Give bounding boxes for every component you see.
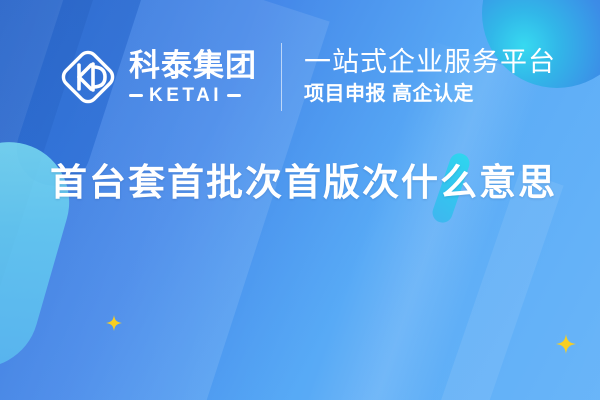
- sparkle-icon: [106, 315, 122, 331]
- slogan-sub-text: 项目申报 高企认定: [304, 82, 556, 107]
- header-divider: [281, 43, 282, 111]
- logo-dash-right-icon: [227, 94, 241, 97]
- ketai-kd-monogram-icon: [57, 46, 119, 108]
- banner-header: 科泰集团 KETAI 一站式企业服务平台 项目申报 高企认定: [57, 36, 556, 118]
- logo-wordmark: 科泰集团 KETAI: [129, 50, 257, 105]
- logo-dash-left-icon: [129, 94, 143, 97]
- slogan-main-text: 一站式企业服务平台: [304, 47, 556, 77]
- logo-company-name-en: KETAI: [149, 86, 222, 105]
- logo-english-row: KETAI: [129, 86, 257, 105]
- sparkle-icon: [556, 334, 576, 354]
- logo-company-name-cn: 科泰集团: [129, 50, 257, 81]
- page-title: 首台套首批次首版次什么意思: [50, 152, 557, 206]
- promo-banner: 科泰集团 KETAI 一站式企业服务平台 项目申报 高企认定 首台套首批次首版次…: [0, 0, 600, 400]
- slogan-block: 一站式企业服务平台 项目申报 高企认定: [304, 47, 556, 106]
